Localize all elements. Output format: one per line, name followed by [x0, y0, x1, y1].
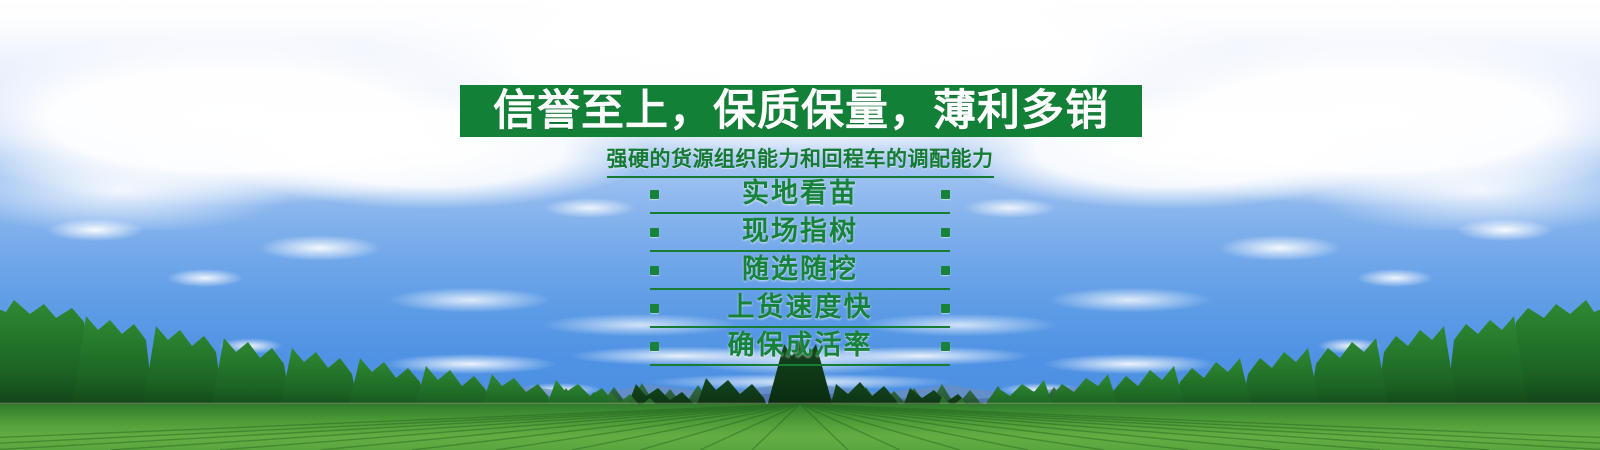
bullet-dot-icon	[941, 342, 950, 351]
bullet-dot-icon	[941, 190, 950, 199]
headline-text: 信誉至上，保质保量，薄利多销	[493, 85, 1109, 137]
bullet-dot-icon	[941, 228, 950, 237]
banner-content: 信誉至上，保质保量，薄利多销 强硬的货源组织能力和回程车的调配能力 实地看苗 现…	[0, 0, 1600, 450]
feature-item-5: 确保成活率	[650, 328, 950, 366]
feature-label-1: 实地看苗	[659, 177, 941, 211]
bullet-dot-icon	[650, 228, 659, 237]
promo-banner: 信誉至上，保质保量，薄利多销 强硬的货源组织能力和回程车的调配能力 实地看苗 现…	[0, 0, 1600, 450]
feature-label-4: 上货速度快	[659, 291, 941, 325]
feature-list: 实地看苗 现场指树 随选随挖 上货速度快 确保成活率	[0, 176, 1600, 366]
bullet-dot-icon	[650, 266, 659, 275]
feature-label-2: 现场指树	[659, 215, 941, 249]
bullet-dot-icon	[650, 304, 659, 313]
feature-item-1: 实地看苗	[650, 176, 950, 214]
bullet-dot-icon	[941, 266, 950, 275]
subtitle-text: 强硬的货源组织能力和回程车的调配能力	[607, 143, 994, 178]
feature-label-3: 随选随挖	[659, 253, 941, 287]
feature-item-4: 上货速度快	[650, 290, 950, 328]
bullet-dot-icon	[650, 190, 659, 199]
feature-label-5: 确保成活率	[659, 329, 941, 363]
feature-item-3: 随选随挖	[650, 252, 950, 290]
subtitle: 强硬的货源组织能力和回程车的调配能力	[0, 143, 1600, 178]
feature-item-2: 现场指树	[650, 214, 950, 252]
headline-banner: 信誉至上，保质保量，薄利多销	[460, 85, 1142, 137]
bullet-dot-icon	[941, 304, 950, 313]
bullet-dot-icon	[650, 342, 659, 351]
